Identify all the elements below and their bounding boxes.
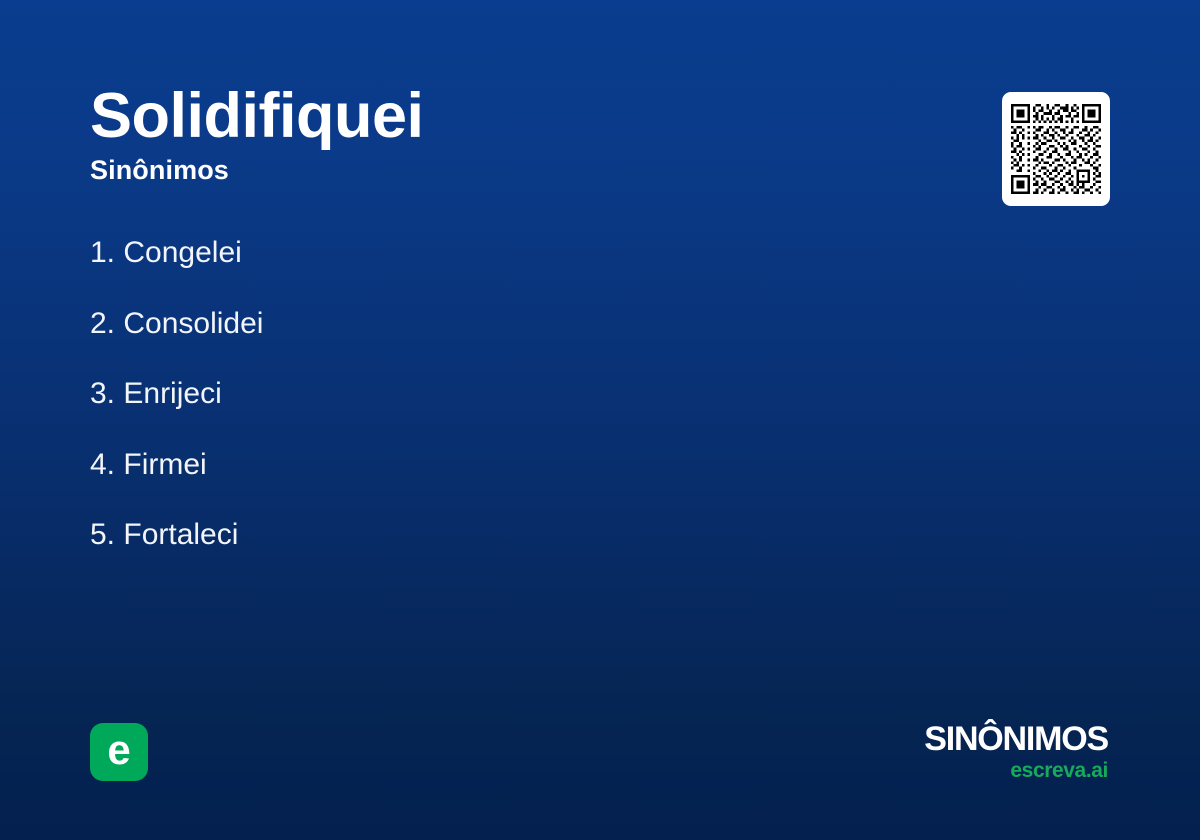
list-item: 4. Firmei [90, 448, 790, 483]
card-header: Solidifiquei Sinônimos [90, 82, 910, 186]
list-item-index: 3. [90, 377, 115, 410]
list-item: 5. Fortaleci [90, 518, 790, 553]
escreva-e-logo-icon: e [90, 723, 148, 781]
list-item-index: 1. [90, 236, 115, 269]
brand-mark-letter: e [107, 729, 130, 771]
list-item-word: Consolidei [123, 307, 263, 340]
list-item-index: 4. [90, 448, 115, 481]
synonym-list: 1. Congelei 2. Consolidei 3. Enrijeci 4.… [90, 236, 790, 589]
page-subtitle: Sinônimos [90, 156, 910, 186]
list-item-index: 2. [90, 307, 115, 340]
qr-code-icon [1011, 104, 1101, 194]
brand-logo-word: SINÔNIMOS [924, 722, 1108, 756]
qr-code[interactable] [1002, 92, 1110, 206]
list-item-word: Enrijeci [123, 377, 221, 410]
list-item-word: Congelei [123, 236, 241, 269]
list-item: 2. Consolidei [90, 307, 790, 342]
list-item: 1. Congelei [90, 236, 790, 271]
brand-logo-sub: escreva.ai [924, 760, 1108, 781]
list-item: 3. Enrijeci [90, 377, 790, 412]
list-item-word: Firmei [123, 448, 206, 481]
page-title: Solidifiquei [90, 82, 910, 150]
brand-logo: SINÔNIMOS escreva.ai [924, 722, 1108, 781]
list-item-index: 5. [90, 518, 115, 551]
synonym-card: Solidifiquei Sinônimos [0, 0, 1200, 840]
list-item-word: Fortaleci [123, 518, 238, 551]
